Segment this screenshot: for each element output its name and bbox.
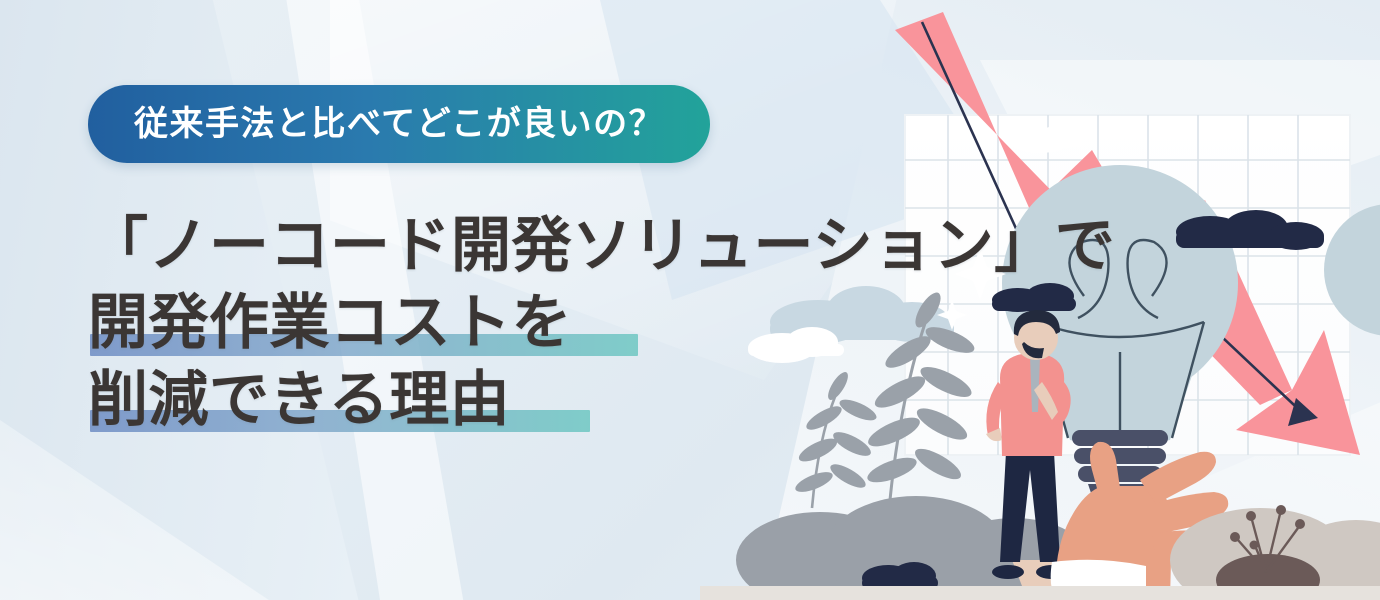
headline-line-2-text: 開発作業コストを — [88, 289, 572, 356]
headline-line-3-text: 削減できる理由 — [88, 366, 510, 433]
man-shoe-left — [992, 565, 1024, 579]
hero-banner: 従来手法と比べてどこが良いの？ 「ノーコード開発ソリューション」で 開発作業コス… — [0, 0, 1380, 600]
headline-line-2: 開発作業コストを — [88, 285, 788, 362]
badge-label: 従来手法と比べてどこが良いの？ — [134, 107, 664, 141]
badge-question: 従来手法と比べてどこが良いの？ — [88, 85, 710, 163]
ground-strip — [700, 586, 1380, 600]
plant-small — [793, 369, 879, 508]
headline-line-3: 削減できる理由 — [88, 362, 788, 439]
headline-block: 「ノーコード開発ソリューション」で 開発作業コストを 削減できる理由 — [88, 208, 788, 438]
illustration-cost-reduction — [700, 0, 1380, 600]
headline-line-1-text: 「ノーコード開発ソリューション」で — [88, 212, 1115, 279]
headline-line-1: 「ノーコード開発ソリューション」で — [88, 208, 788, 285]
